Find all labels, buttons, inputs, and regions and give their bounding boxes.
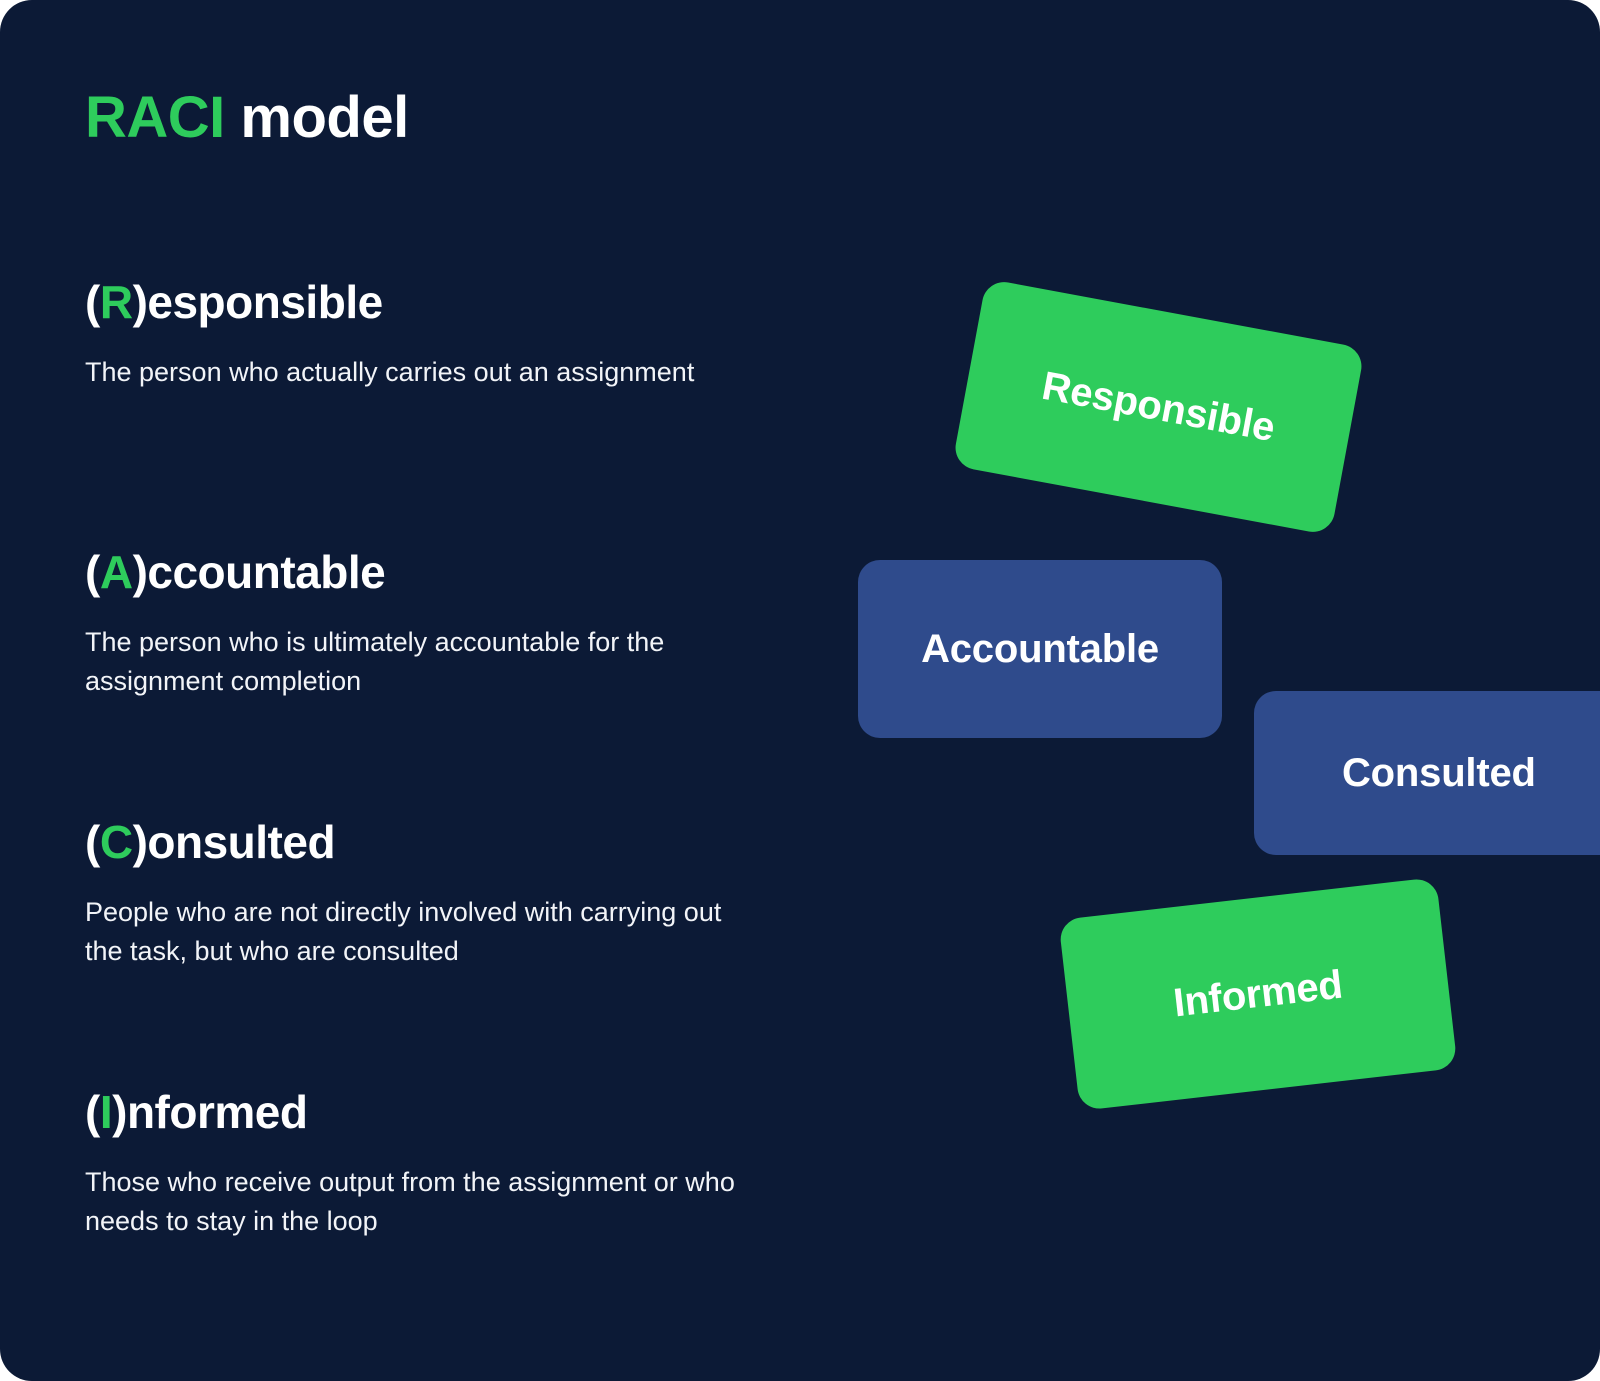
role-close-paren: ) — [133, 276, 148, 328]
role-letter-a: A — [100, 546, 133, 598]
role-heading-rest: esponsible — [147, 276, 382, 328]
role-open-paren: ( — [85, 276, 100, 328]
role-description-accountable: The person who is ultimately accountable… — [85, 623, 765, 701]
definitions-column: RACI model (R)esponsible The person who … — [85, 0, 785, 1381]
role-heading-rest: ccountable — [147, 546, 385, 598]
raci-model-infographic: RACI model (R)esponsible The person who … — [0, 0, 1600, 1381]
card-label-informed: Informed — [1171, 962, 1345, 1026]
role-heading-informed: (I)nformed — [85, 1085, 785, 1139]
role-block-consulted: (C)onsulted People who are not directly … — [85, 815, 785, 971]
role-open-paren: ( — [85, 1086, 100, 1138]
role-heading-rest: onsulted — [147, 816, 335, 868]
card-informed[interactable]: Informed — [1058, 877, 1457, 1111]
role-block-responsible: (R)esponsible The person who actually ca… — [85, 275, 785, 392]
role-heading-rest: nformed — [127, 1086, 308, 1138]
role-letter-r: R — [100, 276, 133, 328]
role-block-accountable: (A)ccountable The person who is ultimate… — [85, 545, 785, 701]
role-description-responsible: The person who actually carries out an a… — [85, 353, 765, 392]
card-consulted[interactable]: Consulted — [1254, 691, 1600, 855]
role-close-paren: ) — [133, 816, 148, 868]
role-open-paren: ( — [85, 816, 100, 868]
role-description-informed: Those who receive output from the assign… — [85, 1163, 765, 1241]
card-label-accountable: Accountable — [921, 627, 1159, 672]
card-label-responsible: Responsible — [1039, 363, 1279, 450]
card-label-consulted: Consulted — [1342, 751, 1536, 796]
card-accountable[interactable]: Accountable — [858, 560, 1222, 738]
role-open-paren: ( — [85, 546, 100, 598]
page-title: RACI model — [85, 84, 409, 151]
role-heading-consulted: (C)onsulted — [85, 815, 785, 869]
page-title-accent: RACI — [85, 85, 225, 150]
role-letter-c: C — [100, 816, 133, 868]
role-heading-accountable: (A)ccountable — [85, 545, 785, 599]
role-block-informed: (I)nformed Those who receive output from… — [85, 1085, 785, 1241]
role-heading-responsible: (R)esponsible — [85, 275, 785, 329]
card-responsible[interactable]: Responsible — [952, 279, 1365, 536]
role-close-paren: ) — [133, 546, 148, 598]
role-letter-i: I — [100, 1086, 112, 1138]
role-description-consulted: People who are not directly involved wit… — [85, 893, 765, 971]
page-title-rest: model — [225, 85, 409, 150]
role-close-paren: ) — [112, 1086, 127, 1138]
